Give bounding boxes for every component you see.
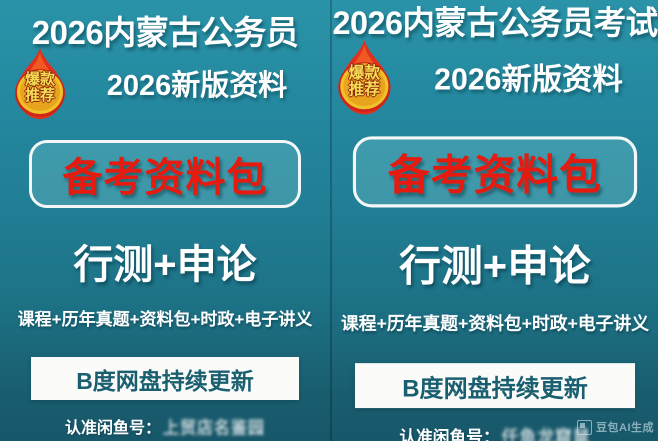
panel-left-highlight-box: 备考资料包 <box>29 140 301 208</box>
panel-left-footer: 认准闲鱼号：上贸店名鉴园 <box>0 414 330 438</box>
panel-right-cta-text: B度网盘持续更新 <box>402 368 588 404</box>
flame-badge-right: 爆款 推荐 <box>330 39 400 116</box>
panel-right-footer-label: 认准闲鱼号： <box>399 429 499 441</box>
flame-badge-left: 爆款 推荐 <box>6 47 74 121</box>
promo-panel-right: 2026内蒙古公务员考试 爆款 推荐 2026新版资料 备考资料包 行测+ <box>330 0 658 441</box>
panel-left-footer-value: 上贸店名鉴园 <box>163 413 265 438</box>
panel-right-highlight-text: 备考资料包 <box>388 142 602 203</box>
panel-left-cta-box: B度网盘持续更新 <box>31 357 299 400</box>
ai-watermark: 豆包AI生成 <box>577 419 654 435</box>
panel-right-midline: 行测+申论 <box>330 233 658 294</box>
panel-right-highlight-box: 备考资料包 <box>353 136 637 207</box>
panel-right-subheadline: 2026新版资料 <box>398 55 658 99</box>
panel-left-midline: 行测+申论 <box>0 232 330 290</box>
promo-image-canvas: 2026内蒙古公务员 爆款 推荐 2026新版资料 备考资料包 行测+申论 <box>0 0 658 441</box>
flame-badge-right-line2: 推荐 <box>330 82 400 99</box>
panel-left-footer-label: 认准闲鱼号： <box>65 420 161 437</box>
panel-left-highlight-text: 备考资料包 <box>63 145 268 203</box>
panel-left-content: 2026内蒙古公务员 爆款 推荐 2026新版资料 备考资料包 行测+申论 <box>0 0 330 441</box>
panel-left-subheadline: 2026新版资料 <box>72 62 322 104</box>
panel-left-cta-text: B度网盘持续更新 <box>76 362 254 396</box>
panel-right-content: 2026内蒙古公务员考试 爆款 推荐 2026新版资料 备考资料包 行测+ <box>330 0 658 441</box>
flame-badge-right-text: 爆款 推荐 <box>330 65 400 98</box>
panel-right-headline: 2026内蒙古公务员考试 <box>330 0 658 43</box>
panel-left-features: 课程+历年真题+资料包+时政+电子讲义 <box>0 305 330 330</box>
promo-panel-left: 2026内蒙古公务员 爆款 推荐 2026新版资料 备考资料包 行测+申论 <box>0 0 330 441</box>
doubao-logo-icon <box>577 420 592 435</box>
flame-badge-left-line2: 推荐 <box>6 88 74 104</box>
panel-right-cta-box: B度网盘持续更新 <box>355 363 635 408</box>
flame-badge-left-text: 爆款 推荐 <box>6 72 74 104</box>
ai-watermark-label: 豆包AI生成 <box>596 419 654 435</box>
flame-badge-right-line1: 爆款 <box>349 64 380 82</box>
panel-right-features: 课程+历年真题+资料包+时政+电子讲义 <box>330 309 658 335</box>
flame-badge-left-line1: 爆款 <box>25 71 55 88</box>
